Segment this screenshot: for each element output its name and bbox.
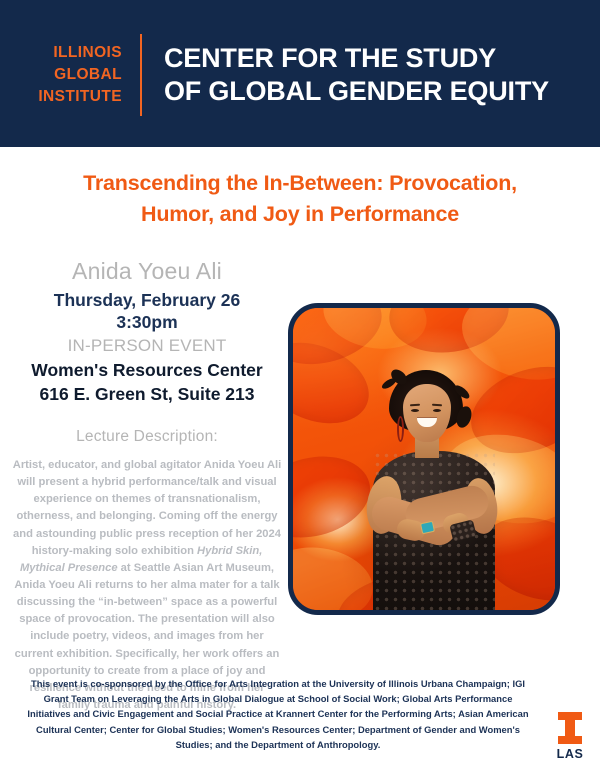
las-label: LAS xyxy=(551,747,589,761)
event-title-line-1: Transcending the In-Between: Provocation… xyxy=(14,168,586,199)
event-details-column: Anida Yoeu Ali Thursday, February 26 3:3… xyxy=(4,258,290,714)
event-date: Thursday, February 26 xyxy=(4,289,290,311)
header-inner: ILLINOIS GLOBAL INSTITUTE CENTER FOR THE… xyxy=(0,30,600,120)
center-title-line-1: CENTER FOR THE STUDY xyxy=(164,42,549,75)
photo-canvas xyxy=(293,308,555,610)
igi-line-2: GLOBAL xyxy=(0,64,122,86)
header-banner: ILLINOIS GLOBAL INSTITUTE CENTER FOR THE… xyxy=(0,0,600,147)
las-logo: LAS xyxy=(551,711,589,761)
vertical-divider xyxy=(140,34,142,116)
figure-eye-left xyxy=(411,409,419,412)
event-time: 3:30pm xyxy=(4,311,290,333)
illinois-global-institute-lockup: ILLINOIS GLOBAL INSTITUTE xyxy=(0,42,122,108)
figure-eye-right xyxy=(433,409,441,412)
event-address: 616 E. Green St, Suite 213 xyxy=(4,383,290,406)
description-part-1: Artist, educator, and global agitator An… xyxy=(13,459,282,557)
portrait-figure xyxy=(293,308,555,610)
illinois-block-i-icon xyxy=(555,711,585,745)
lecture-description-heading: Lecture Description: xyxy=(4,428,290,446)
center-title-line-2: OF GLOBAL GENDER EQUITY xyxy=(164,75,549,108)
igi-line-3: INSTITUTE xyxy=(0,86,122,108)
figure-earring xyxy=(397,416,404,442)
event-title-line-2: Humor, and Joy in Performance xyxy=(14,199,586,230)
event-title: Transcending the In-Between: Provocation… xyxy=(14,168,586,229)
event-mode-badge: IN-PERSON EVENT xyxy=(4,335,290,357)
center-title: CENTER FOR THE STUDY OF GLOBAL GENDER EQ… xyxy=(164,42,549,108)
sponsor-footer: This event is co-sponsored by the Office… xyxy=(24,676,532,752)
igi-line-1: ILLINOIS xyxy=(0,42,122,64)
figure-face xyxy=(403,384,451,442)
speaker-photo xyxy=(288,303,560,615)
speaker-name: Anida Yoeu Ali xyxy=(4,258,290,286)
event-venue: Women's Resources Center xyxy=(4,359,290,382)
